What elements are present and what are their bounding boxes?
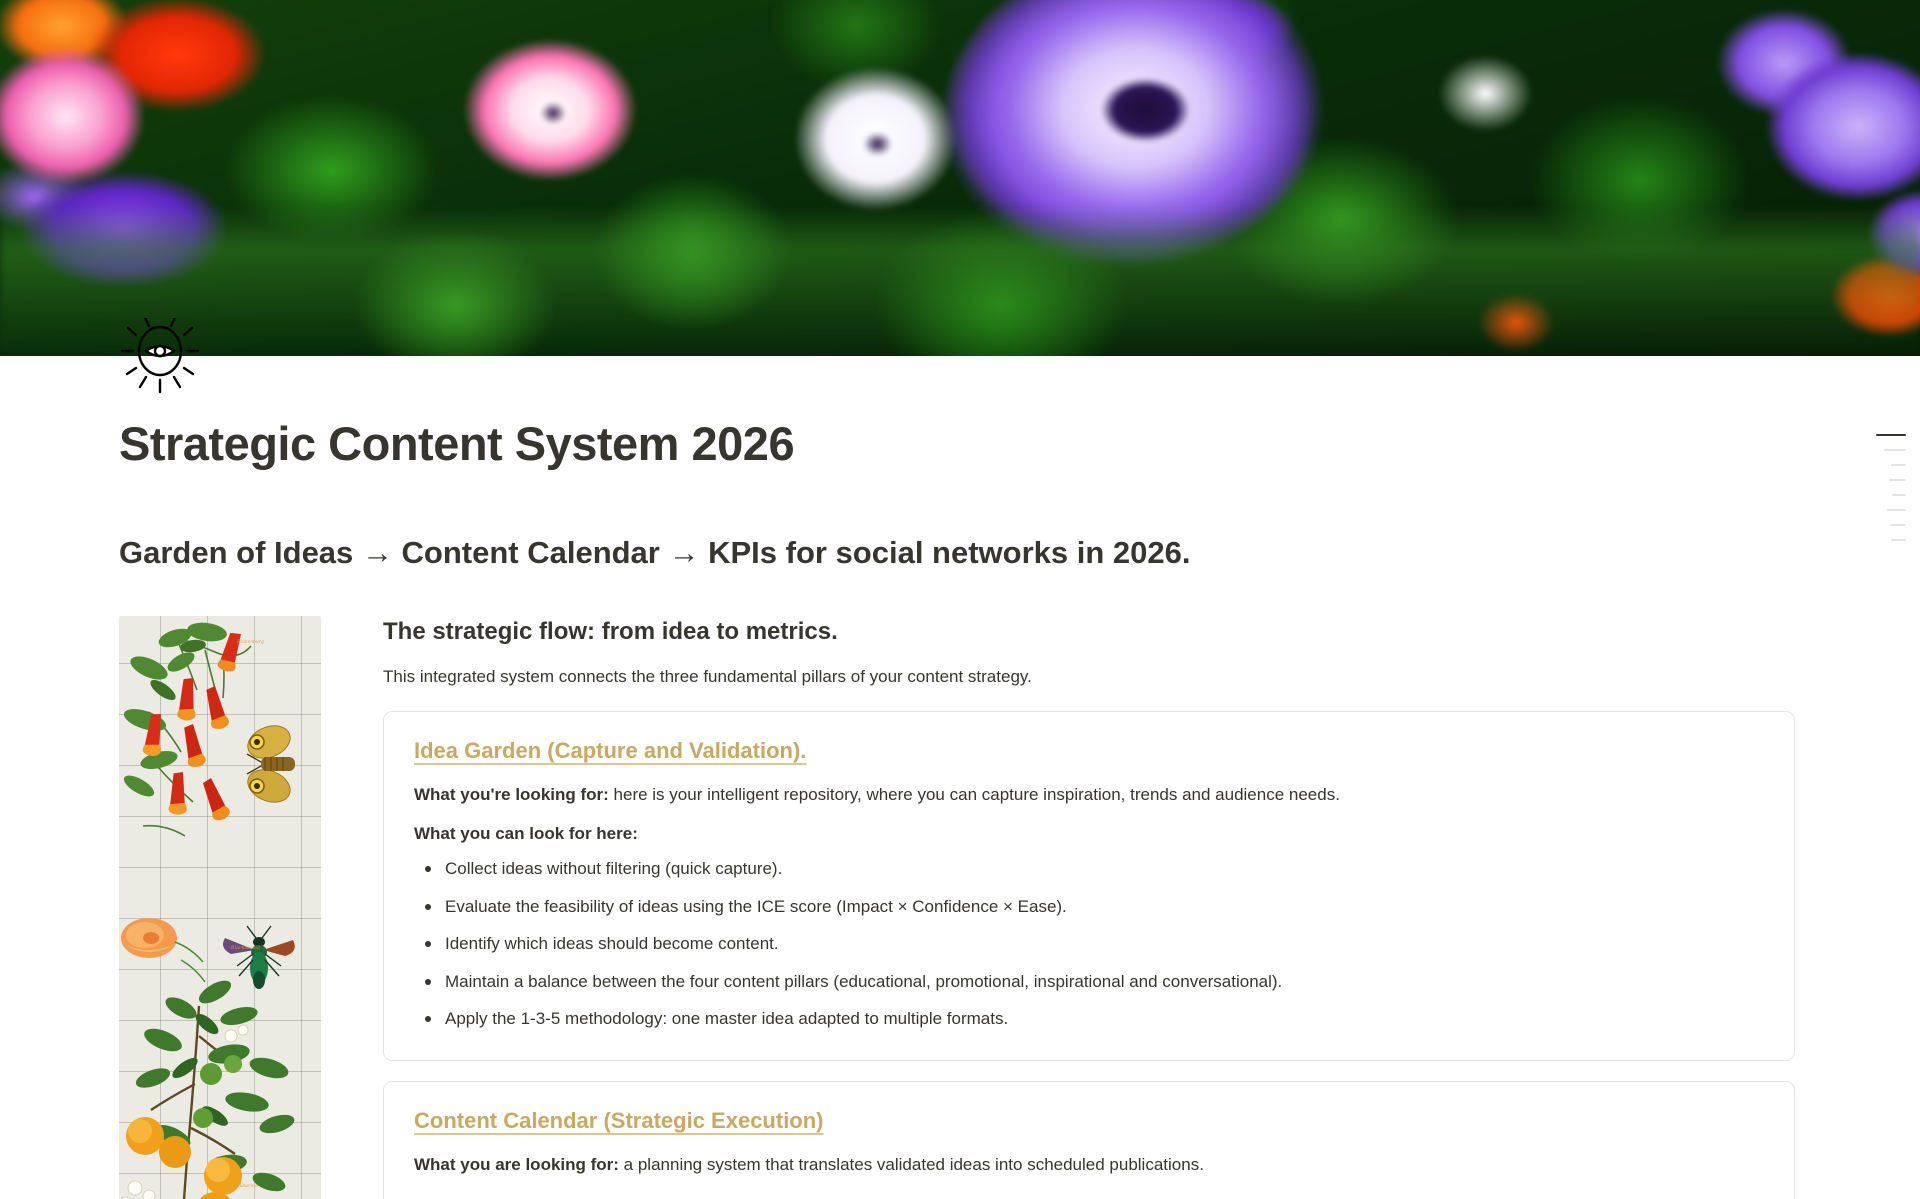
toc-item[interactable] (1889, 479, 1906, 481)
list-item: Identify which ideas should become conte… (414, 931, 1764, 957)
page-subtitle: Garden of Ideas → Content Calendar → KPI… (0, 471, 1920, 573)
illustration-label: Blakenburg (237, 640, 264, 645)
card-intro-label: What you are looking for: (414, 1155, 619, 1174)
illustration-label: Blackburnia (229, 1184, 258, 1189)
list-item: Apply the 1-3-5 methodology: one master … (414, 1006, 1764, 1032)
toc-item[interactable] (1884, 449, 1906, 451)
section-heading: The strategic flow: from idea to metrics… (383, 616, 1795, 647)
sun-eye-icon[interactable] (119, 318, 201, 400)
card-bullet-list: Collect ideas without filtering (quick c… (414, 856, 1764, 1032)
toc-item[interactable] (1891, 539, 1906, 541)
list-item: Maintain a balance between the four cont… (414, 969, 1764, 995)
section-description: This integrated system connects the thre… (383, 664, 1795, 690)
card-idea-garden: Idea Garden (Capture and Validation). Wh… (383, 711, 1795, 1061)
table-of-contents-rail[interactable] (1854, 434, 1906, 541)
hero-banner (0, 0, 1920, 356)
botanical-illustration: Blakenburg Blackburnia Blackburnia (119, 616, 321, 1199)
text-column: The strategic flow: from idea to metrics… (383, 616, 1920, 1199)
toc-item-active[interactable] (1876, 434, 1906, 436)
card-intro-text: a planning system that translates valida… (619, 1155, 1204, 1174)
toc-item[interactable] (1891, 464, 1906, 466)
page-title: Strategic Content System 2026 (0, 356, 1920, 471)
illustration-artwork (119, 616, 321, 1199)
hero-foliage-overlay (0, 0, 1920, 356)
page-body: Strategic Content System 2026 Garden of … (0, 356, 1920, 1199)
toc-item[interactable] (1887, 509, 1906, 511)
card-link-content-calendar[interactable]: Content Calendar (Strategic Execution) (414, 1108, 824, 1134)
card-intro-paragraph: What you're looking for: here is your in… (414, 782, 1764, 808)
list-item: Evaluate the feasibility of ideas using … (414, 894, 1764, 920)
toc-item[interactable] (1892, 494, 1906, 496)
illustration-column: Blakenburg Blackburnia Blackburnia (119, 616, 321, 1199)
card-sublabel: What you can look for here: (414, 821, 1764, 847)
toc-item[interactable] (1890, 524, 1906, 526)
card-link-idea-garden[interactable]: Idea Garden (Capture and Validation). (414, 738, 806, 764)
card-content-calendar: Content Calendar (Strategic Execution) W… (383, 1081, 1795, 1199)
list-item: Collect ideas without filtering (quick c… (414, 856, 1764, 882)
card-intro-label: What you're looking for: (414, 785, 609, 804)
card-intro-paragraph: What you are looking for: a planning sys… (414, 1152, 1764, 1178)
illustration-label: Blackburnia (231, 946, 260, 951)
content-columns: Blakenburg Blackburnia Blackburnia The s… (0, 574, 1920, 1199)
card-intro-text: here is your intelligent repository, whe… (609, 785, 1340, 804)
